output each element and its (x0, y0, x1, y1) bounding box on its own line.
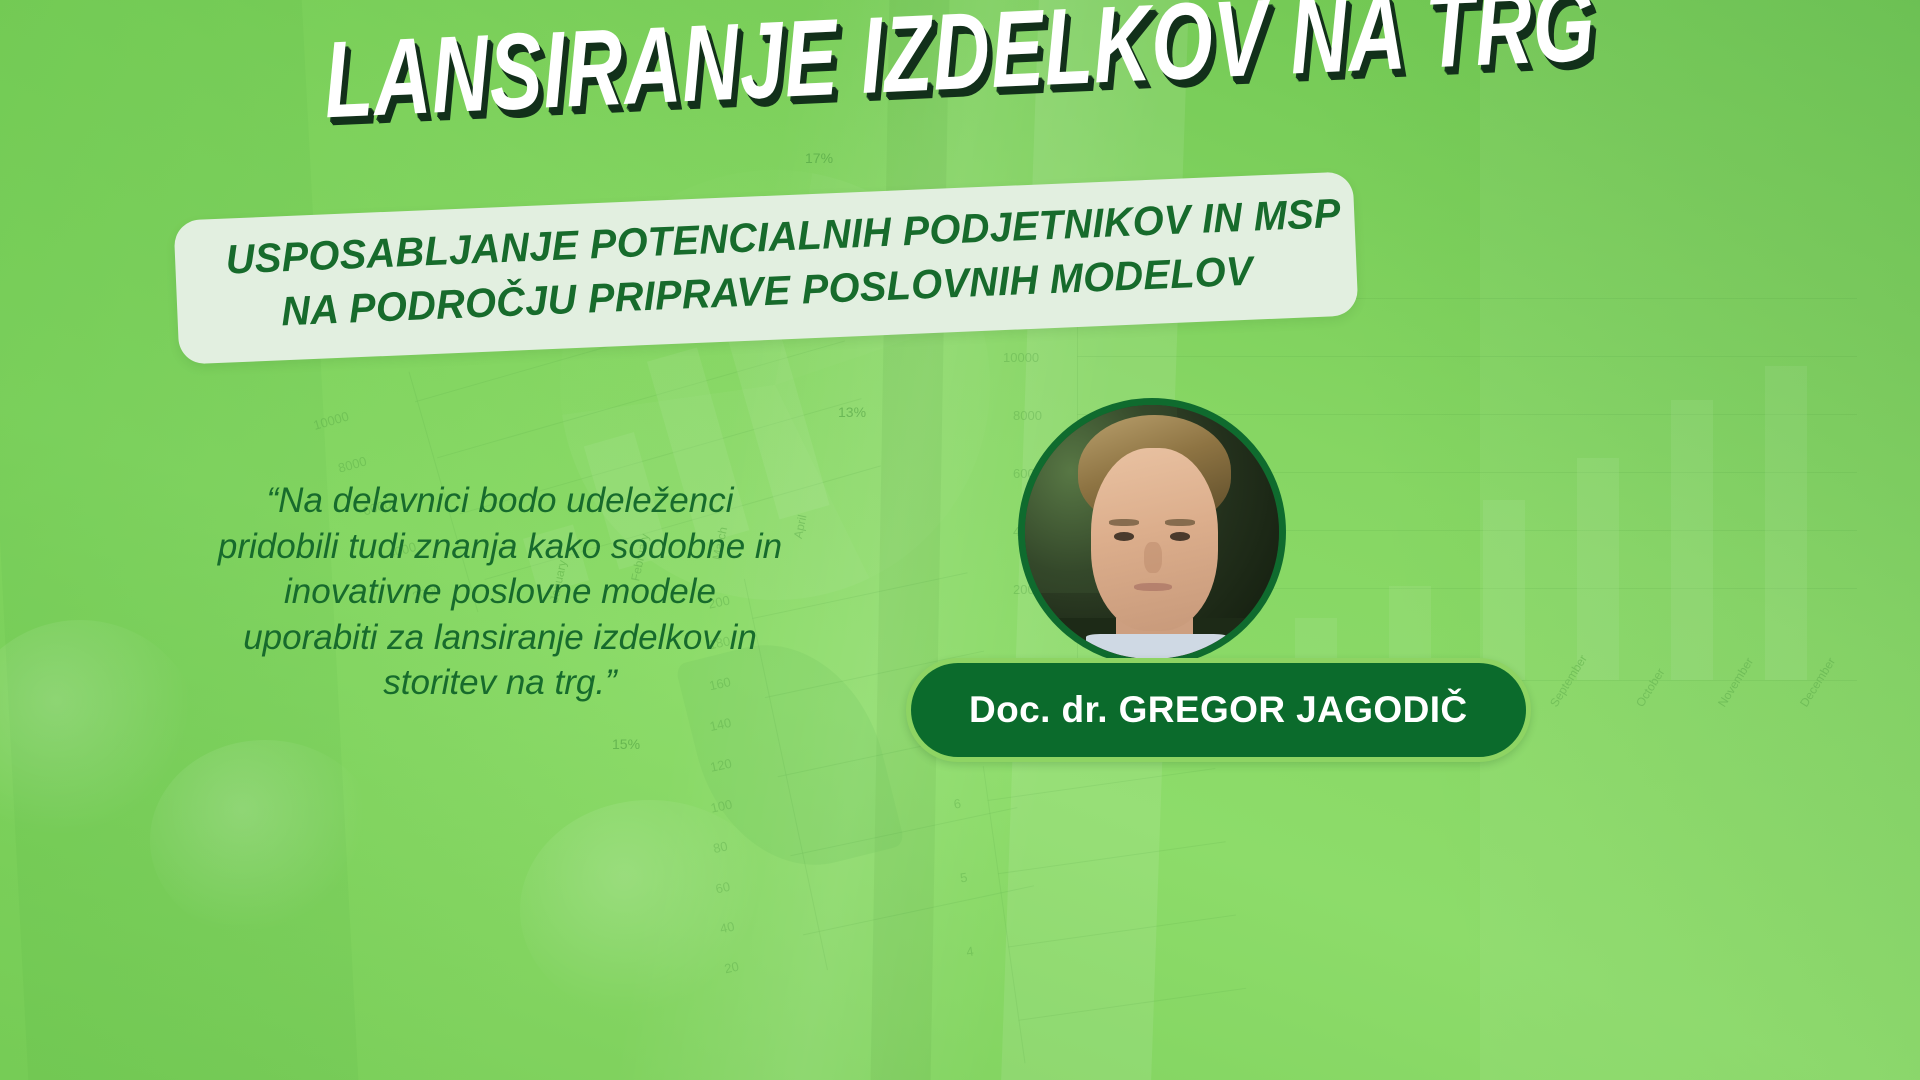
speaker-portrait (1018, 398, 1286, 666)
portrait-eye-right (1170, 532, 1190, 541)
portrait-face (1091, 448, 1218, 631)
quote-block: “Na delavnici bodo udeleženci pridobili … (180, 478, 820, 706)
quote-line-3: inovativne poslovne modele (180, 569, 820, 615)
portrait-nose (1144, 542, 1162, 572)
portrait-eyebrow-left (1109, 519, 1139, 526)
quote-line-5: storitev na trg.” (180, 660, 820, 706)
speaker-name-badge: Doc. dr. GREGOR JAGODIČ (906, 658, 1531, 762)
quote-line-2: pridobili tudi znanja kako sodobne in (180, 524, 820, 570)
portrait-eyebrow-right (1165, 519, 1195, 526)
pie-pct-label: 15% (612, 736, 640, 752)
portrait-eye-left (1114, 532, 1134, 541)
quote-line-1: “Na delavnici bodo udeleženci (180, 478, 820, 524)
portrait-mouth (1134, 583, 1172, 591)
pie-pct-label: 17% (805, 150, 833, 166)
quote-line-4: uporabiti za lansiranje izdelkov in (180, 615, 820, 661)
background-chart-bottom-right: 6 5 4 (938, 721, 1282, 1080)
speaker-name: Doc. dr. GREGOR JAGODIČ (969, 689, 1468, 731)
